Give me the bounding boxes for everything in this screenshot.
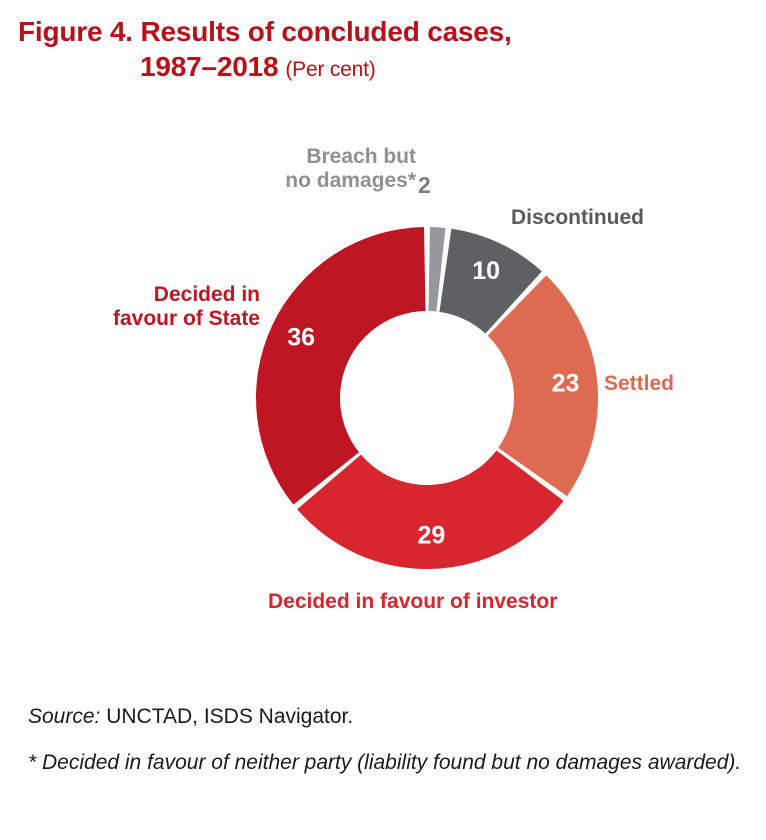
source-note-prefix: Source: (28, 705, 100, 728)
slice-value-breach-but-no-damages: 2 (418, 172, 431, 199)
figure-title-line2-wrap: 1987–2018(Per cent) (0, 49, 766, 84)
footnote: * Decided in favour of neither party (li… (28, 748, 758, 777)
figure-notes: Source: UNCTAD, ISDS Navigator. * Decide… (28, 702, 758, 795)
donut-chart: 10232936 Breach but no damages* 2 Discon… (0, 110, 766, 670)
source-note: Source: UNCTAD, ISDS Navigator. (28, 702, 758, 731)
donut-slice-value: 36 (287, 323, 315, 351)
figure-title-years: 1987–2018 (140, 51, 278, 82)
donut-slice-value: 10 (472, 257, 500, 285)
slice-label-discontinued: Discontinued (511, 206, 644, 230)
figure-title-unit: (Per cent) (285, 58, 375, 81)
slice-label-decided-in-favour-of-state: Decided in favour of State (80, 283, 260, 331)
donut-slice-value: 23 (552, 370, 580, 398)
slice-label-breach-but-no-damages: Breach but no damages* (236, 145, 416, 193)
slice-label-settled: Settled (604, 372, 674, 396)
figure-title-line1: Figure 4. Results of concluded cases, (0, 14, 766, 49)
slice-label-decided-in-favour-of-investor: Decided in favour of investor (268, 590, 557, 614)
source-note-text: UNCTAD, ISDS Navigator. (106, 705, 353, 728)
donut-slice-value: 29 (417, 522, 445, 550)
donut-slices (256, 227, 598, 569)
donut-slice (256, 227, 425, 505)
figure-title: Figure 4. Results of concluded cases, 19… (0, 14, 766, 84)
